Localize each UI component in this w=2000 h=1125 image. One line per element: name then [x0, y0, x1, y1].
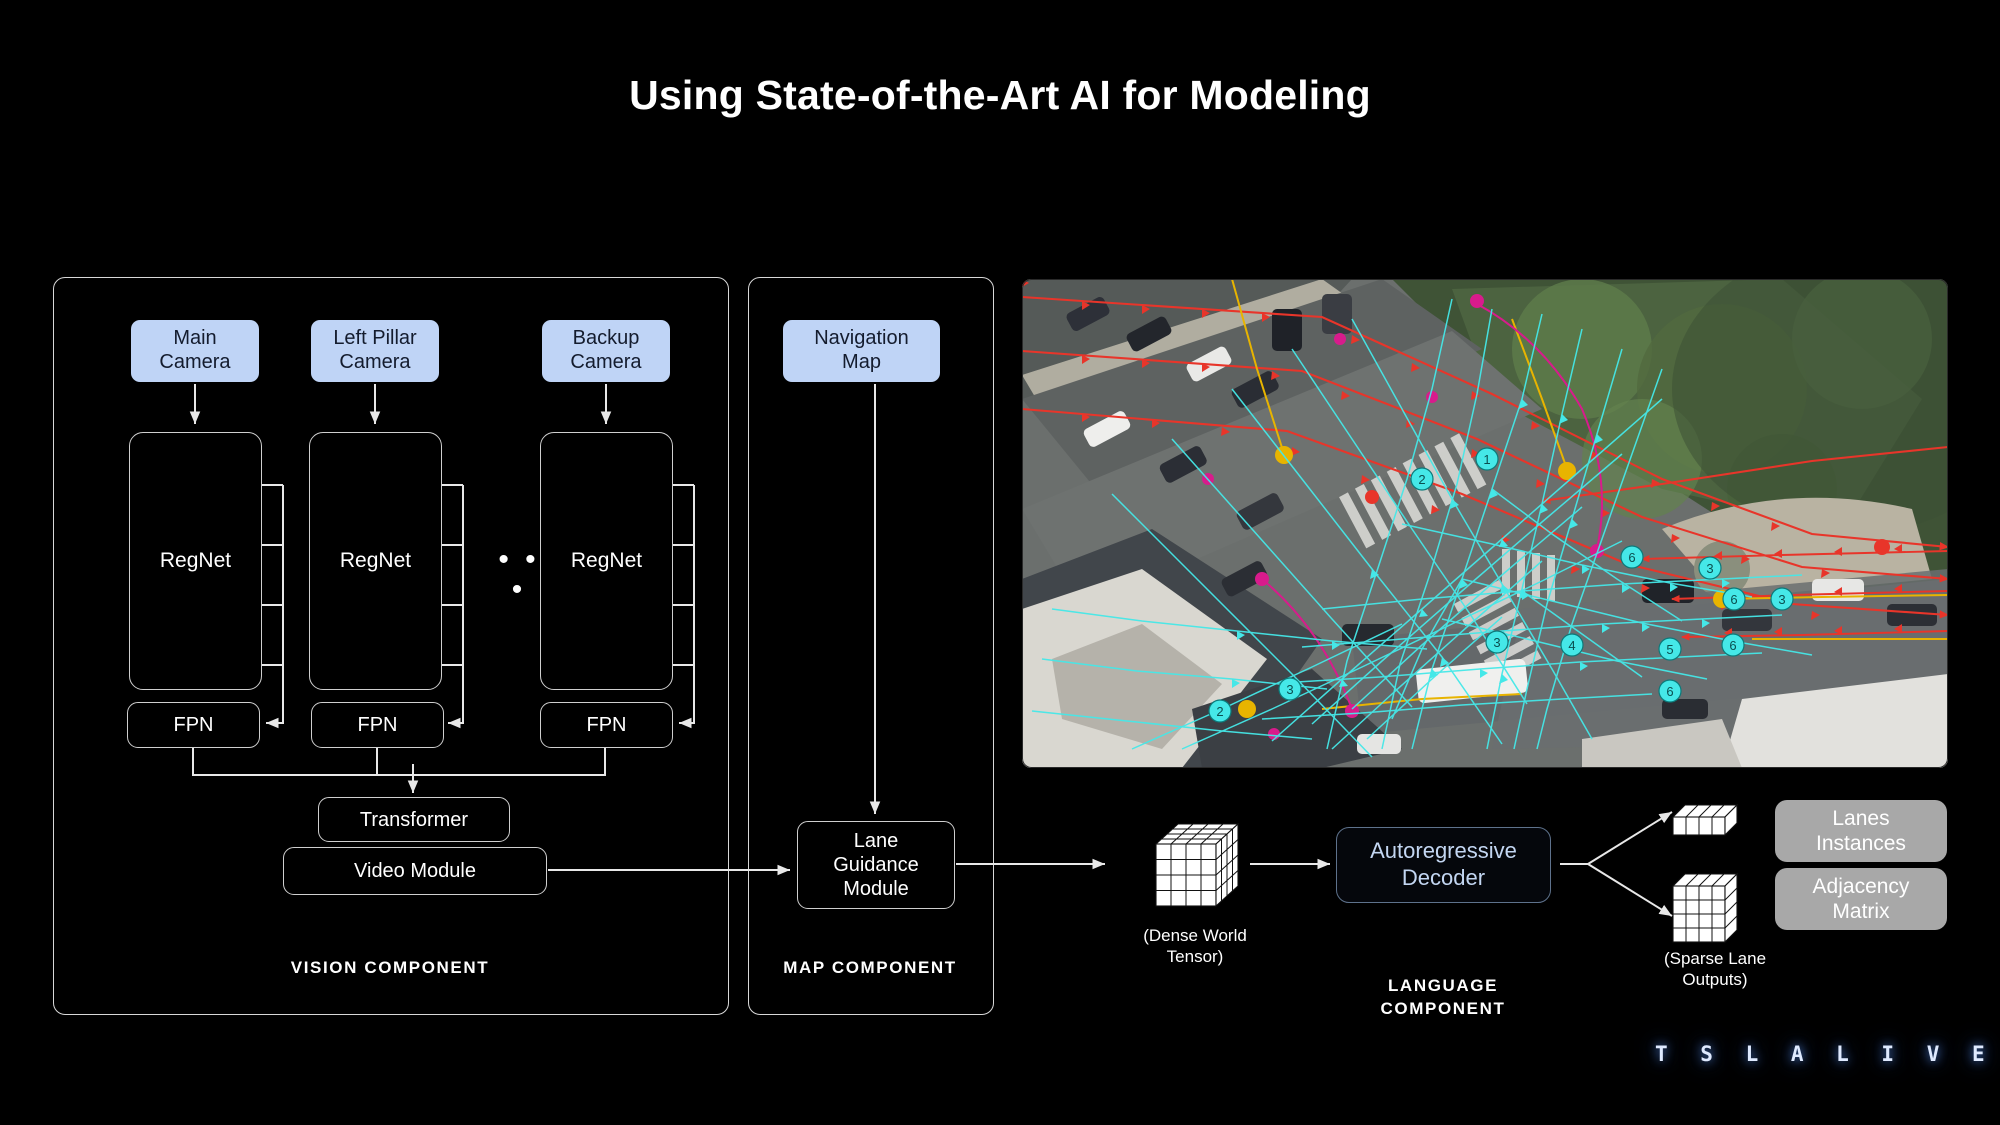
output-box-lanes-instances[interactable]: Lanes Instances	[1775, 800, 1947, 862]
ellipsis-indicator: • • •	[489, 545, 549, 605]
regnet-label: RegNet	[340, 548, 411, 573]
map-component-label: MAP COMPONENT	[748, 958, 992, 978]
navigation-map-line2: Map	[814, 351, 909, 375]
lane-guidance-module-box[interactable]: Lane Guidance Module	[797, 821, 955, 909]
camera-label-line1: Left Pillar	[333, 327, 416, 351]
fpn-label: FPN	[587, 713, 627, 737]
decoder-line1: Autoregressive	[1370, 838, 1517, 865]
language-component-label: LANGUAGE COMPONENT	[1340, 975, 1546, 1021]
arrow-decoder-to-adjacency-matrix	[1588, 864, 1672, 916]
language-component-label-line2: COMPONENT	[1340, 998, 1546, 1021]
regnet-label: RegNet	[160, 548, 231, 573]
svg-text:3: 3	[1493, 635, 1500, 650]
output-box-adjacency-matrix[interactable]: Adjacency Matrix	[1775, 868, 1947, 930]
decoder-line2: Decoder	[1370, 865, 1517, 892]
navigation-map-box[interactable]: Navigation Map	[783, 320, 940, 382]
camera-box-main[interactable]: Main Camera	[131, 320, 259, 382]
output-label-line2: Matrix	[1813, 899, 1910, 924]
regnet-box-2[interactable]: RegNet	[309, 432, 442, 690]
svg-text:6: 6	[1628, 550, 1635, 565]
dense-world-tensor-line2: Tensor)	[1100, 946, 1290, 967]
regnet-label: RegNet	[571, 548, 642, 573]
svg-text:2: 2	[1418, 472, 1425, 487]
camera-label-line1: Backup	[570, 327, 641, 351]
fpn-box-2[interactable]: FPN	[311, 702, 444, 748]
sparse-lane-row-cube	[1669, 801, 1741, 839]
language-component-label-line1: LANGUAGE	[1340, 975, 1546, 998]
dense-cube-svg	[1138, 818, 1244, 918]
fpn-label: FPN	[174, 713, 214, 737]
svg-text:2: 2	[1216, 704, 1223, 719]
lane-guidance-line3: Module	[833, 877, 919, 901]
video-module-box[interactable]: Video Module	[283, 847, 547, 895]
dense-world-tensor-line1: (Dense World	[1100, 925, 1290, 946]
transformer-label: Transformer	[360, 808, 468, 832]
vision-component-label: VISION COMPONENT	[53, 958, 727, 978]
svg-text:3: 3	[1286, 682, 1293, 697]
page-title: Using State-of-the-Art AI for Modeling	[0, 72, 2000, 119]
autoregressive-decoder-box[interactable]: Autoregressive Decoder	[1336, 827, 1551, 903]
fpn-label: FPN	[358, 713, 398, 737]
camera-label-line2: Camera	[333, 351, 416, 375]
sparse-lane-matrix-cube	[1669, 870, 1741, 946]
fpn-box-1[interactable]: FPN	[127, 702, 260, 748]
regnet-box-3[interactable]: RegNet	[540, 432, 673, 690]
lane-matrix-cube-svg	[1669, 870, 1741, 946]
camera-label-line1: Main	[159, 327, 230, 351]
svg-text:6: 6	[1729, 638, 1736, 653]
lane-guidance-line2: Guidance	[833, 853, 919, 877]
fpn-box-3[interactable]: FPN	[540, 702, 673, 748]
output-label-line2: Instances	[1816, 831, 1906, 856]
dense-world-tensor-cube	[1138, 818, 1244, 918]
svg-text:3: 3	[1778, 592, 1785, 607]
sparse-lane-line1: (Sparse Lane	[1620, 948, 1810, 969]
navigation-map-line1: Navigation	[814, 327, 909, 351]
camera-label-line2: Camera	[570, 351, 641, 375]
sparse-lane-line2: Outputs)	[1620, 969, 1810, 990]
tsla-live-watermark: T S L A L I V E	[1655, 1042, 1995, 1066]
arrow-decoder-to-lanes-instances	[1588, 812, 1672, 864]
output-label-line1: Adjacency	[1813, 874, 1910, 899]
svg-text:1: 1	[1483, 452, 1490, 467]
svg-text:4: 4	[1568, 638, 1575, 653]
svg-text:6: 6	[1666, 684, 1673, 699]
sparse-lane-outputs-caption: (Sparse Lane Outputs)	[1620, 948, 1810, 991]
transformer-box[interactable]: Transformer	[318, 797, 510, 842]
camera-box-left-pillar[interactable]: Left Pillar Camera	[311, 320, 439, 382]
dense-world-tensor-caption: (Dense World Tensor)	[1100, 925, 1290, 968]
lane-guidance-line1: Lane	[833, 829, 919, 853]
lane-row-cube-svg	[1669, 801, 1741, 839]
regnet-box-1[interactable]: RegNet	[129, 432, 262, 690]
camera-label-line2: Camera	[159, 351, 230, 375]
video-module-label: Video Module	[354, 859, 476, 883]
svg-text:6: 6	[1730, 592, 1737, 607]
camera-box-backup[interactable]: Backup Camera	[542, 320, 670, 382]
aerial-map-svg: 3 4 5 6 6 3 2 6	[1022, 279, 1948, 768]
slide-canvas: Using State-of-the-Art AI for Modeling V…	[0, 0, 2000, 1125]
svg-text:5: 5	[1666, 642, 1673, 657]
svg-text:3: 3	[1706, 561, 1713, 576]
lane-graph-visualization: 3 4 5 6 6 3 2 6	[1022, 279, 1948, 768]
output-label-line1: Lanes	[1816, 806, 1906, 831]
